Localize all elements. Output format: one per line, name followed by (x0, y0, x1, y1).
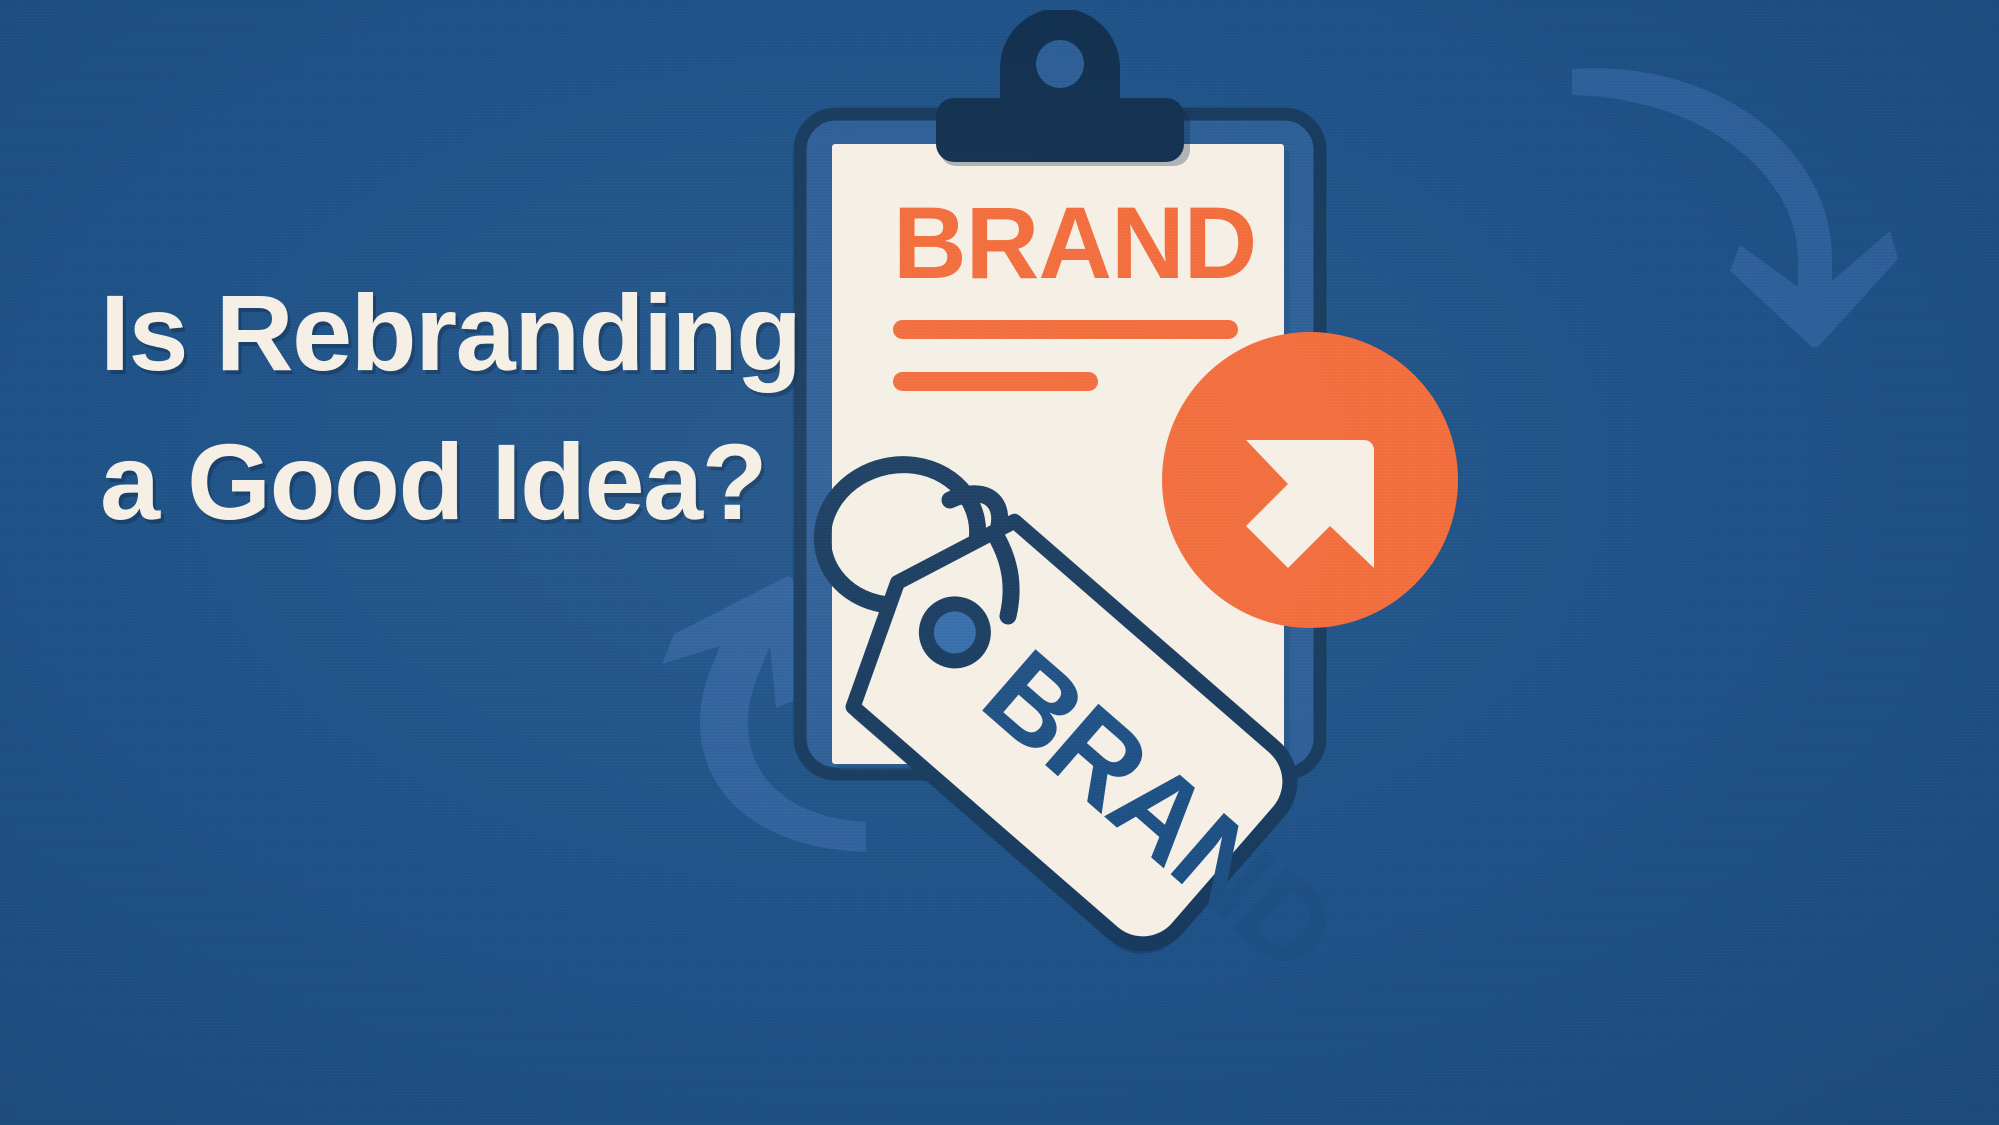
page-title: Is Rebranding a Good Idea? (100, 258, 900, 556)
curved-arrow-top-right-icon (1560, 45, 1900, 370)
page-title-line-1: Is Rebranding (100, 258, 900, 407)
paper-rule-line-2 (893, 372, 1098, 391)
paper-heading: BRAND (893, 186, 1256, 300)
poster-canvas: Is Rebranding a Good Idea? BRAND (0, 0, 1999, 1125)
clipboard-clip (936, 10, 1184, 162)
page-title-line-2: a Good Idea? (100, 407, 900, 556)
